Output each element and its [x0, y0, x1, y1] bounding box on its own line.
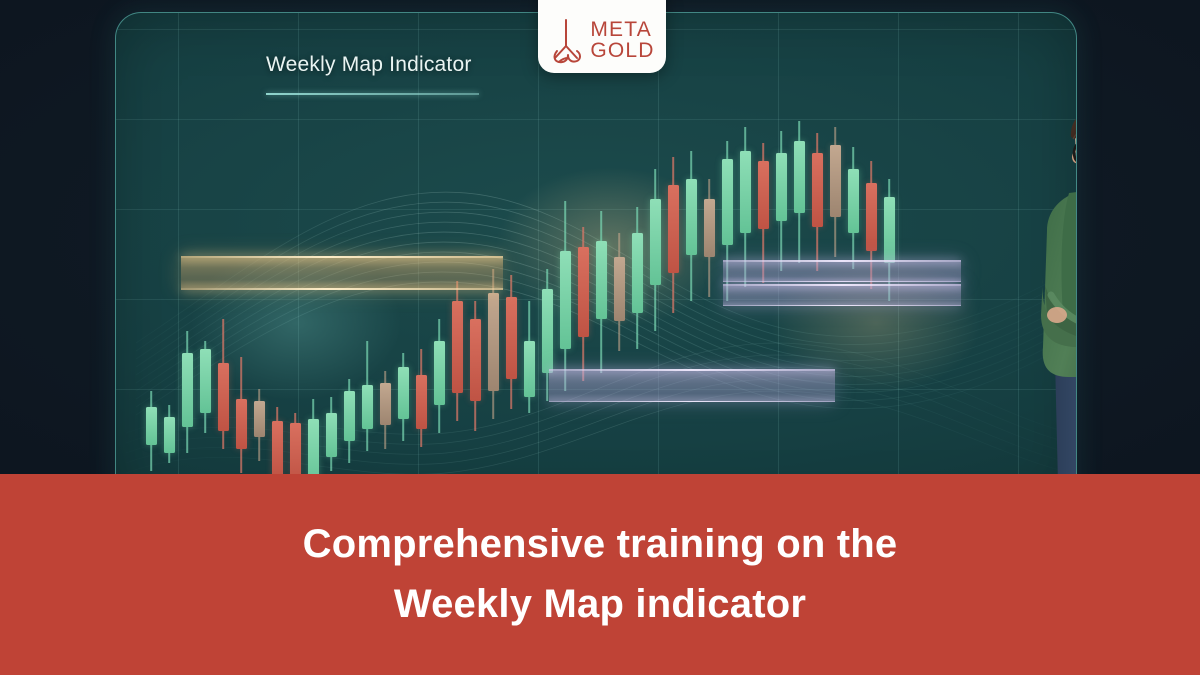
candle-body [794, 141, 805, 213]
zone-purple-zone-upper-2 [723, 284, 961, 306]
chart-title: Weekly Map Indicator [266, 53, 472, 77]
chart-title-underline [266, 93, 479, 95]
candle-body [380, 383, 391, 425]
meta-gold-logo-badge[interactable]: META GOLD [538, 0, 666, 73]
candlestick [236, 357, 247, 473]
logo-line-1: META [590, 20, 654, 41]
candle-body [542, 289, 553, 373]
banner-heading: Comprehensive training on the Weekly Map… [303, 515, 898, 633]
candle-body [236, 399, 247, 449]
candle-body [560, 251, 571, 349]
screenshot-canvas: Weekly Map Indicator [0, 0, 1200, 675]
candlestick [452, 281, 463, 421]
candle-body [596, 241, 607, 319]
candle-body [668, 185, 679, 273]
candlestick [596, 211, 607, 373]
candle-body [164, 417, 175, 453]
candlestick [380, 371, 391, 449]
candle-body [398, 367, 409, 419]
candle-body [344, 391, 355, 441]
candlestick [164, 405, 175, 463]
candlestick [794, 121, 805, 263]
candlestick [434, 319, 445, 433]
meta-gold-anchor-icon [549, 18, 583, 64]
candle-body [866, 183, 877, 251]
candle-body [272, 421, 283, 479]
candlestick [488, 269, 499, 419]
candle-body [776, 153, 787, 221]
candle-body [470, 319, 481, 401]
candlestick [326, 397, 337, 471]
logo-row: META GOLD [549, 18, 654, 64]
candlestick [146, 391, 157, 471]
candle-body [182, 353, 193, 427]
candle-body [326, 413, 337, 457]
candle-body [740, 151, 751, 233]
candle-body [884, 197, 895, 263]
candlestick [830, 127, 841, 257]
candlestick [650, 169, 661, 331]
candle-body [416, 375, 427, 429]
candlestick [560, 201, 571, 391]
candlestick [578, 227, 589, 381]
candlestick [686, 151, 697, 301]
candle-body [578, 247, 589, 337]
candlestick [416, 349, 427, 447]
zone-gold-supply-zone [181, 256, 503, 290]
candle-body [722, 159, 733, 245]
candle-body [146, 407, 157, 445]
banner-line-2: Weekly Map indicator [303, 575, 898, 634]
candle-body [758, 161, 769, 229]
chart-panel-inner: Weekly Map Indicator [116, 13, 1076, 513]
candle-body [686, 179, 697, 255]
logo-line-2: GOLD [590, 41, 654, 62]
candle-body [218, 363, 229, 431]
candle-body [362, 385, 373, 429]
candle-body [452, 301, 463, 393]
candlestick [704, 179, 715, 297]
chart-screen-panel: Weekly Map Indicator [115, 12, 1077, 514]
banner-line-1: Comprehensive training on the [303, 522, 898, 566]
candlestick [506, 275, 517, 409]
candlestick [884, 179, 895, 301]
candle-body [614, 257, 625, 321]
zone-purple-zone-lower [549, 369, 835, 402]
candlestick [776, 131, 787, 271]
logo-wordmark: META GOLD [590, 20, 654, 62]
candlestick [254, 389, 265, 461]
candle-body [524, 341, 535, 397]
candle-body [830, 145, 841, 217]
candlestick [668, 157, 679, 313]
candlestick [470, 301, 481, 431]
analyst-character [1021, 109, 1076, 513]
candle-body [488, 293, 499, 391]
candlestick [632, 207, 643, 349]
candle-body [434, 341, 445, 405]
zone-purple-zone-upper-1 [723, 260, 961, 282]
candlestick [362, 341, 373, 451]
candlestick [524, 301, 535, 413]
candlestick [812, 133, 823, 271]
candle-body [650, 199, 661, 285]
candle-body [254, 401, 265, 437]
candle-body [200, 349, 211, 413]
candlestick [344, 379, 355, 463]
candle-body [632, 233, 643, 313]
candlestick [398, 353, 409, 441]
candle-body [848, 169, 859, 233]
candle-body [506, 297, 517, 379]
candle-body [704, 199, 715, 257]
candle-body [812, 153, 823, 227]
bottom-banner: Comprehensive training on the Weekly Map… [0, 474, 1200, 675]
candlestick [614, 233, 625, 351]
candlestick [182, 331, 193, 453]
candlestick [200, 341, 211, 433]
candlestick [848, 147, 859, 269]
candlestick [218, 319, 229, 449]
